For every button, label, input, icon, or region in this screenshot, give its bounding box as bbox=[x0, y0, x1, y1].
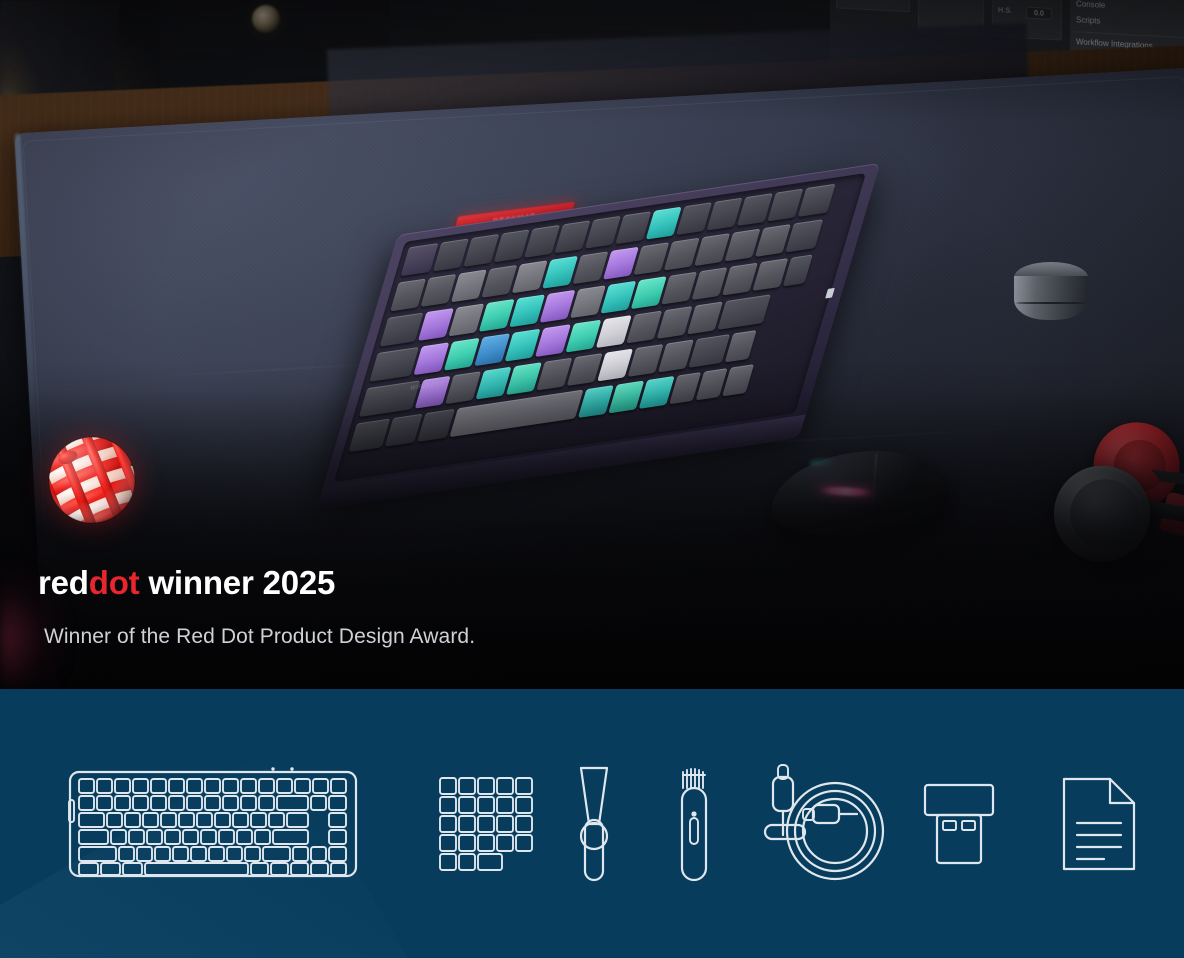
key-w[interactable] bbox=[448, 303, 484, 336]
key-g[interactable] bbox=[535, 324, 571, 357]
contents-item-usb-c-cable bbox=[744, 689, 904, 958]
key-period[interactable] bbox=[658, 339, 694, 372]
key-8[interactable] bbox=[633, 242, 669, 275]
key-bracket-left[interactable] bbox=[722, 263, 758, 296]
key-x[interactable] bbox=[445, 371, 481, 404]
key-f1[interactable] bbox=[433, 238, 469, 271]
key-h[interactable] bbox=[565, 320, 601, 353]
key-k[interactable] bbox=[626, 311, 662, 344]
key-s[interactable] bbox=[444, 338, 480, 371]
key-a[interactable] bbox=[413, 342, 449, 375]
key-y[interactable] bbox=[570, 285, 606, 318]
key-2[interactable] bbox=[451, 269, 487, 302]
key-9[interactable] bbox=[664, 238, 700, 271]
key-f7[interactable] bbox=[615, 211, 651, 244]
headphones bbox=[1050, 408, 1184, 613]
key-fn[interactable] bbox=[608, 381, 644, 414]
key-esc[interactable] bbox=[401, 243, 439, 276]
key-6[interactable] bbox=[573, 251, 609, 284]
menu-item-console[interactable]: Console bbox=[1076, 0, 1105, 10]
keyboard-icon bbox=[68, 764, 358, 884]
contents-item-manual bbox=[1014, 689, 1184, 958]
key-d[interactable] bbox=[474, 333, 510, 366]
hero-product-photo: L.S. 0.0 High 50.0 H.S. 0.0 Monitor Cali… bbox=[0, 0, 1184, 689]
control-value-hs[interactable]: 0.0 bbox=[1026, 7, 1052, 20]
key-7[interactable] bbox=[603, 247, 639, 280]
contents-item-keyboard bbox=[0, 689, 426, 958]
key-f12[interactable] bbox=[767, 189, 803, 222]
speaker-cone-icon bbox=[252, 5, 280, 33]
award-title: reddot winner 2025 bbox=[38, 566, 475, 599]
key-tilde[interactable] bbox=[390, 279, 426, 312]
key-minus[interactable] bbox=[725, 229, 761, 262]
key-f11[interactable] bbox=[737, 193, 773, 226]
award-title-red: red bbox=[38, 564, 89, 601]
key-semicolon[interactable] bbox=[687, 301, 723, 334]
switch-puller-icon bbox=[674, 766, 714, 882]
key-r[interactable] bbox=[509, 294, 545, 327]
reddot-sphere-logo-icon bbox=[40, 428, 144, 532]
key-o[interactable] bbox=[661, 272, 697, 305]
key-comma[interactable] bbox=[628, 344, 664, 377]
key-shift-right[interactable] bbox=[688, 334, 730, 368]
contents-item-usb-receiver bbox=[904, 689, 1014, 958]
key-n[interactable] bbox=[567, 353, 603, 386]
key-c[interactable] bbox=[476, 367, 512, 400]
award-title-dot: dot bbox=[89, 564, 140, 601]
key-j[interactable] bbox=[596, 315, 632, 348]
key-5[interactable] bbox=[542, 256, 578, 289]
cylinder-body bbox=[1014, 276, 1088, 320]
key-v[interactable] bbox=[506, 362, 542, 395]
key-e[interactable] bbox=[479, 299, 515, 332]
control-label-hs: H.S. bbox=[998, 7, 1012, 15]
ui-panel bbox=[836, 0, 910, 12]
cylindrical-speaker bbox=[1014, 262, 1088, 332]
key-tab[interactable] bbox=[380, 313, 424, 347]
box-contents-band bbox=[0, 689, 1184, 958]
award-block: reddot winner 2025 Winner of the Red Dot… bbox=[38, 428, 475, 649]
usb-c-cable-icon bbox=[759, 761, 889, 887]
key-f5[interactable] bbox=[555, 220, 591, 253]
contents-item-switch-puller bbox=[644, 689, 744, 958]
key-b[interactable] bbox=[536, 358, 572, 391]
key-delete[interactable] bbox=[798, 184, 836, 217]
key-capslock[interactable] bbox=[369, 347, 419, 382]
key-ctrl-right[interactable] bbox=[639, 376, 675, 409]
key-f8[interactable] bbox=[646, 207, 682, 240]
contents-item-keycap-set bbox=[426, 689, 544, 958]
usb-receiver-icon bbox=[921, 781, 997, 867]
key-f2[interactable] bbox=[463, 234, 499, 267]
keycap-puller-icon bbox=[571, 764, 617, 884]
key-f[interactable] bbox=[505, 329, 541, 362]
key-alt-right[interactable] bbox=[578, 385, 614, 418]
award-subtitle: Winner of the Red Dot Product Design Awa… bbox=[44, 625, 475, 649]
key-i[interactable] bbox=[631, 276, 667, 309]
key-f9[interactable] bbox=[676, 202, 712, 235]
key-q[interactable] bbox=[418, 308, 454, 341]
wireless-mouse bbox=[766, 443, 954, 545]
key-1[interactable] bbox=[421, 274, 457, 307]
key-backspace[interactable] bbox=[785, 219, 823, 252]
key-f4[interactable] bbox=[524, 225, 560, 258]
product-page: L.S. 0.0 High 50.0 H.S. 0.0 Monitor Cali… bbox=[0, 0, 1184, 958]
manual-document-icon bbox=[1060, 775, 1138, 873]
key-f10[interactable] bbox=[707, 198, 743, 231]
key-4[interactable] bbox=[512, 260, 548, 293]
key-equals[interactable] bbox=[755, 224, 791, 257]
cylinder-seam bbox=[1016, 302, 1086, 304]
keycap-set-icon bbox=[436, 774, 534, 874]
key-u[interactable] bbox=[600, 281, 636, 314]
key-p[interactable] bbox=[692, 267, 728, 300]
key-enter[interactable] bbox=[717, 294, 771, 330]
key-bracket-right[interactable] bbox=[752, 258, 788, 291]
key-3[interactable] bbox=[481, 265, 517, 298]
key-t[interactable] bbox=[540, 290, 576, 323]
contents-item-keycap-puller bbox=[544, 689, 644, 958]
key-l[interactable] bbox=[657, 306, 693, 339]
key-f3[interactable] bbox=[494, 229, 530, 262]
key-f6[interactable] bbox=[585, 216, 621, 249]
award-title-rest: winner 2025 bbox=[139, 564, 335, 601]
key-m[interactable] bbox=[597, 349, 633, 382]
key-0[interactable] bbox=[694, 233, 730, 266]
box-contents-icon-row bbox=[0, 689, 1184, 958]
menu-item-scripts[interactable]: Scripts bbox=[1076, 15, 1100, 25]
